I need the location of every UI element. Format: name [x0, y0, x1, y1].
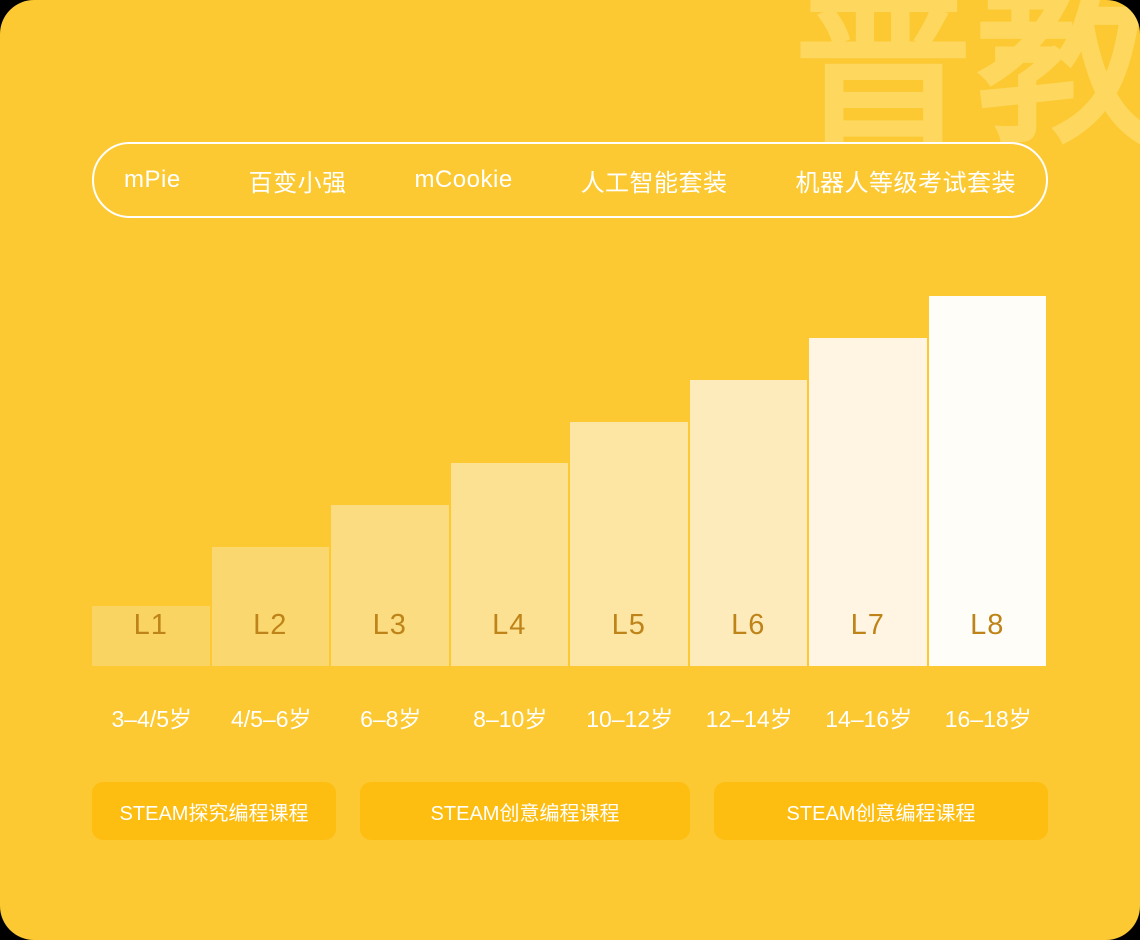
- bar-l6[interactable]: L6: [690, 380, 808, 666]
- nav-item-baibianxiaoqiang[interactable]: 百变小强: [249, 163, 347, 198]
- nav-item-ai-kit[interactable]: 人工智能套装: [581, 163, 728, 198]
- course-button-2[interactable]: STEAM创意编程课程: [360, 782, 690, 840]
- bar-l3[interactable]: L3: [331, 505, 449, 666]
- bar-label: L1: [134, 609, 168, 642]
- nav-item-mpie[interactable]: mPie: [124, 166, 181, 194]
- infographic-card: 普教 mPie 百变小强 mCookie 人工智能套装 机器人等级考试套装 L1…: [0, 0, 1140, 940]
- bar-l7[interactable]: L7: [809, 338, 927, 666]
- age-label: 3–4/5岁: [92, 700, 212, 734]
- age-label: 12–14岁: [690, 700, 810, 734]
- age-label: 6–8岁: [331, 700, 451, 734]
- bar-label: L3: [373, 609, 407, 642]
- product-nav-pill: mPie 百变小强 mCookie 人工智能套装 机器人等级考试套装: [92, 142, 1048, 218]
- course-button-3[interactable]: STEAM创意编程课程: [714, 782, 1048, 840]
- bar-l1[interactable]: L1: [92, 606, 210, 666]
- bar-label: L2: [253, 609, 287, 642]
- nav-item-mcookie[interactable]: mCookie: [414, 166, 512, 194]
- bar-label: L7: [851, 609, 885, 642]
- course-button-1[interactable]: STEAM探究编程课程: [92, 782, 336, 840]
- bar-l4[interactable]: L4: [451, 463, 569, 666]
- age-range-axis: 3–4/5岁4/5–6岁6–8岁8–10岁10–12岁12–14岁14–16岁1…: [92, 700, 1048, 736]
- age-label: 4/5–6岁: [212, 700, 332, 734]
- bar-l8[interactable]: L8: [929, 296, 1047, 666]
- age-label: 14–16岁: [809, 700, 929, 734]
- course-track-row: STEAM探究编程课程STEAM创意编程课程STEAM创意编程课程: [92, 782, 1048, 840]
- bar-label: L5: [612, 609, 646, 642]
- bar-l2[interactable]: L2: [212, 547, 330, 666]
- bar-label: L4: [492, 609, 526, 642]
- bar-l5[interactable]: L5: [570, 422, 688, 666]
- watermark-text: 普教: [794, 0, 1140, 154]
- nav-item-robot-exam-kit[interactable]: 机器人等级考试套装: [795, 163, 1016, 198]
- age-label: 8–10岁: [451, 700, 571, 734]
- bar-label: L8: [970, 609, 1004, 642]
- bar-label: L6: [731, 609, 765, 642]
- age-label: 16–18岁: [929, 700, 1049, 734]
- age-label: 10–12岁: [570, 700, 690, 734]
- level-bar-chart: L1L2L3L4L5L6L7L8: [92, 296, 1048, 666]
